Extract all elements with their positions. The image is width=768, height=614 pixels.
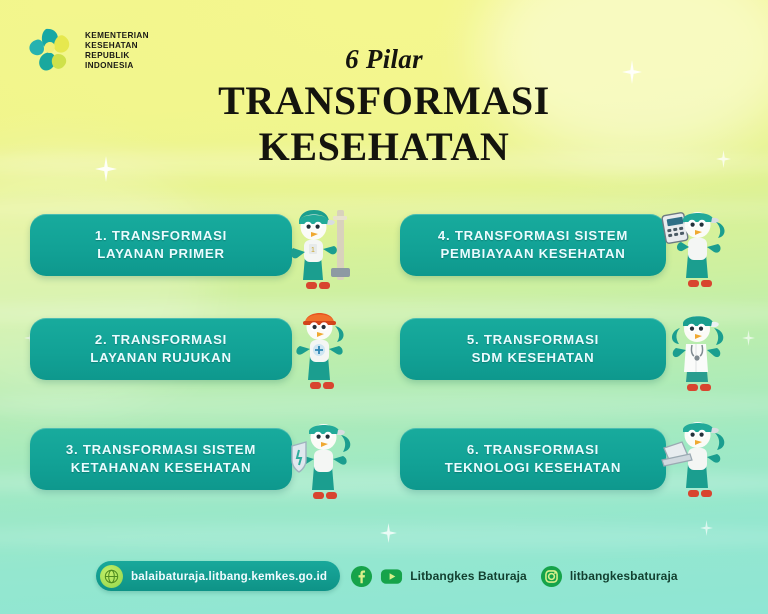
website-pill[interactable]: balaibaturaja.litbang.kemkes.go.id [96, 561, 340, 591]
infographic-canvas: KEMENTERIAN KESEHATAN REPUBLIK INDONESIA… [0, 0, 768, 614]
pillar-card-6-label: 6. TRANSFORMASI TEKNOLOGI KESEHATAN [431, 441, 635, 477]
pillar-card-3[interactable]: 3. TRANSFORMASI SISTEM KETAHANAN KESEHAT… [30, 428, 292, 490]
social-links: Litbangkes Baturaja litbangkesbaturaja [350, 565, 677, 588]
pillar-card-4[interactable]: 4. TRANSFORMASI SISTEM PEMBIAYAAN KESEHA… [400, 214, 666, 276]
title-line-1: TRANSFORMASI [0, 78, 768, 124]
mascot-doctor [662, 298, 736, 394]
pillar-card-4-line-2: PEMBIAYAAN KESEHATAN [438, 245, 628, 263]
sparkle-icon [380, 523, 397, 543]
pillar-card-2-line-1: 2. TRANSFORMASI [90, 331, 231, 349]
mascot-with-laptop [660, 404, 734, 500]
mascot-with-calculator [660, 194, 734, 290]
website-url: balaibaturaja.litbang.kemkes.go.id [131, 570, 327, 583]
sparkle-icon [742, 330, 755, 346]
bg-wave-4 [0, 392, 768, 418]
facebook-icon[interactable] [350, 565, 373, 588]
youtube-icon[interactable] [380, 565, 403, 588]
title-eyebrow: 6 Pilar [0, 44, 768, 75]
mascot-with-helmet [288, 296, 362, 392]
instagram-handle: litbangkesbaturaja [570, 569, 678, 583]
pillar-card-3-line-2: KETAHANAN KESEHATAN [66, 459, 256, 477]
pillar-card-6-line-2: TEKNOLOGI KESEHATAN [445, 459, 621, 477]
bg-wave-6 [0, 524, 768, 550]
pillar-card-3-label: 3. TRANSFORMASI SISTEM KETAHANAN KESEHAT… [52, 441, 270, 477]
globe-icon [100, 565, 123, 588]
social-handle: Litbangkes Baturaja [410, 569, 527, 583]
mascot-with-shield [288, 406, 362, 502]
title-line-2: KESEHATAN [0, 124, 768, 170]
pillar-card-4-label: 4. TRANSFORMASI SISTEM PEMBIAYAAN KESEHA… [424, 227, 642, 263]
pillar-card-6[interactable]: 6. TRANSFORMASI TEKNOLOGI KESEHATAN [400, 428, 666, 490]
pillar-card-3-line-1: 3. TRANSFORMASI SISTEM [66, 441, 256, 459]
mascot-measuring-height: 1 [285, 196, 359, 292]
pillar-card-2-line-2: LAYANAN RUJUKAN [90, 349, 231, 367]
pillar-card-2[interactable]: 2. TRANSFORMASI LAYANAN RUJUKAN [30, 318, 292, 380]
page-title: TRANSFORMASI KESEHATAN [0, 78, 768, 170]
pillar-card-1[interactable]: 1. TRANSFORMASI LAYANAN PRIMER [30, 214, 292, 276]
pillar-card-1-line-2: LAYANAN PRIMER [95, 245, 227, 263]
footer-bar: balaibaturaja.litbang.kemkes.go.id Litba… [96, 561, 678, 591]
sparkle-icon [700, 520, 713, 536]
logo-line-1: KEMENTERIAN [85, 31, 149, 41]
pillar-card-1-label: 1. TRANSFORMASI LAYANAN PRIMER [81, 227, 241, 263]
pillar-card-5-line-1: 5. TRANSFORMASI [467, 331, 599, 349]
pillar-card-1-line-1: 1. TRANSFORMASI [95, 227, 227, 245]
pillar-card-5-line-2: SDM KESEHATAN [467, 349, 599, 367]
pillar-card-5[interactable]: 5. TRANSFORMASI SDM KESEHATAN [400, 318, 666, 380]
instagram-icon[interactable] [540, 565, 563, 588]
pillar-card-5-label: 5. TRANSFORMASI SDM KESEHATAN [453, 331, 613, 367]
pillar-card-4-line-1: 4. TRANSFORMASI SISTEM [438, 227, 628, 245]
pillar-card-2-label: 2. TRANSFORMASI LAYANAN RUJUKAN [76, 331, 245, 367]
svg-text:1: 1 [311, 247, 315, 254]
pillar-card-6-line-1: 6. TRANSFORMASI [445, 441, 621, 459]
